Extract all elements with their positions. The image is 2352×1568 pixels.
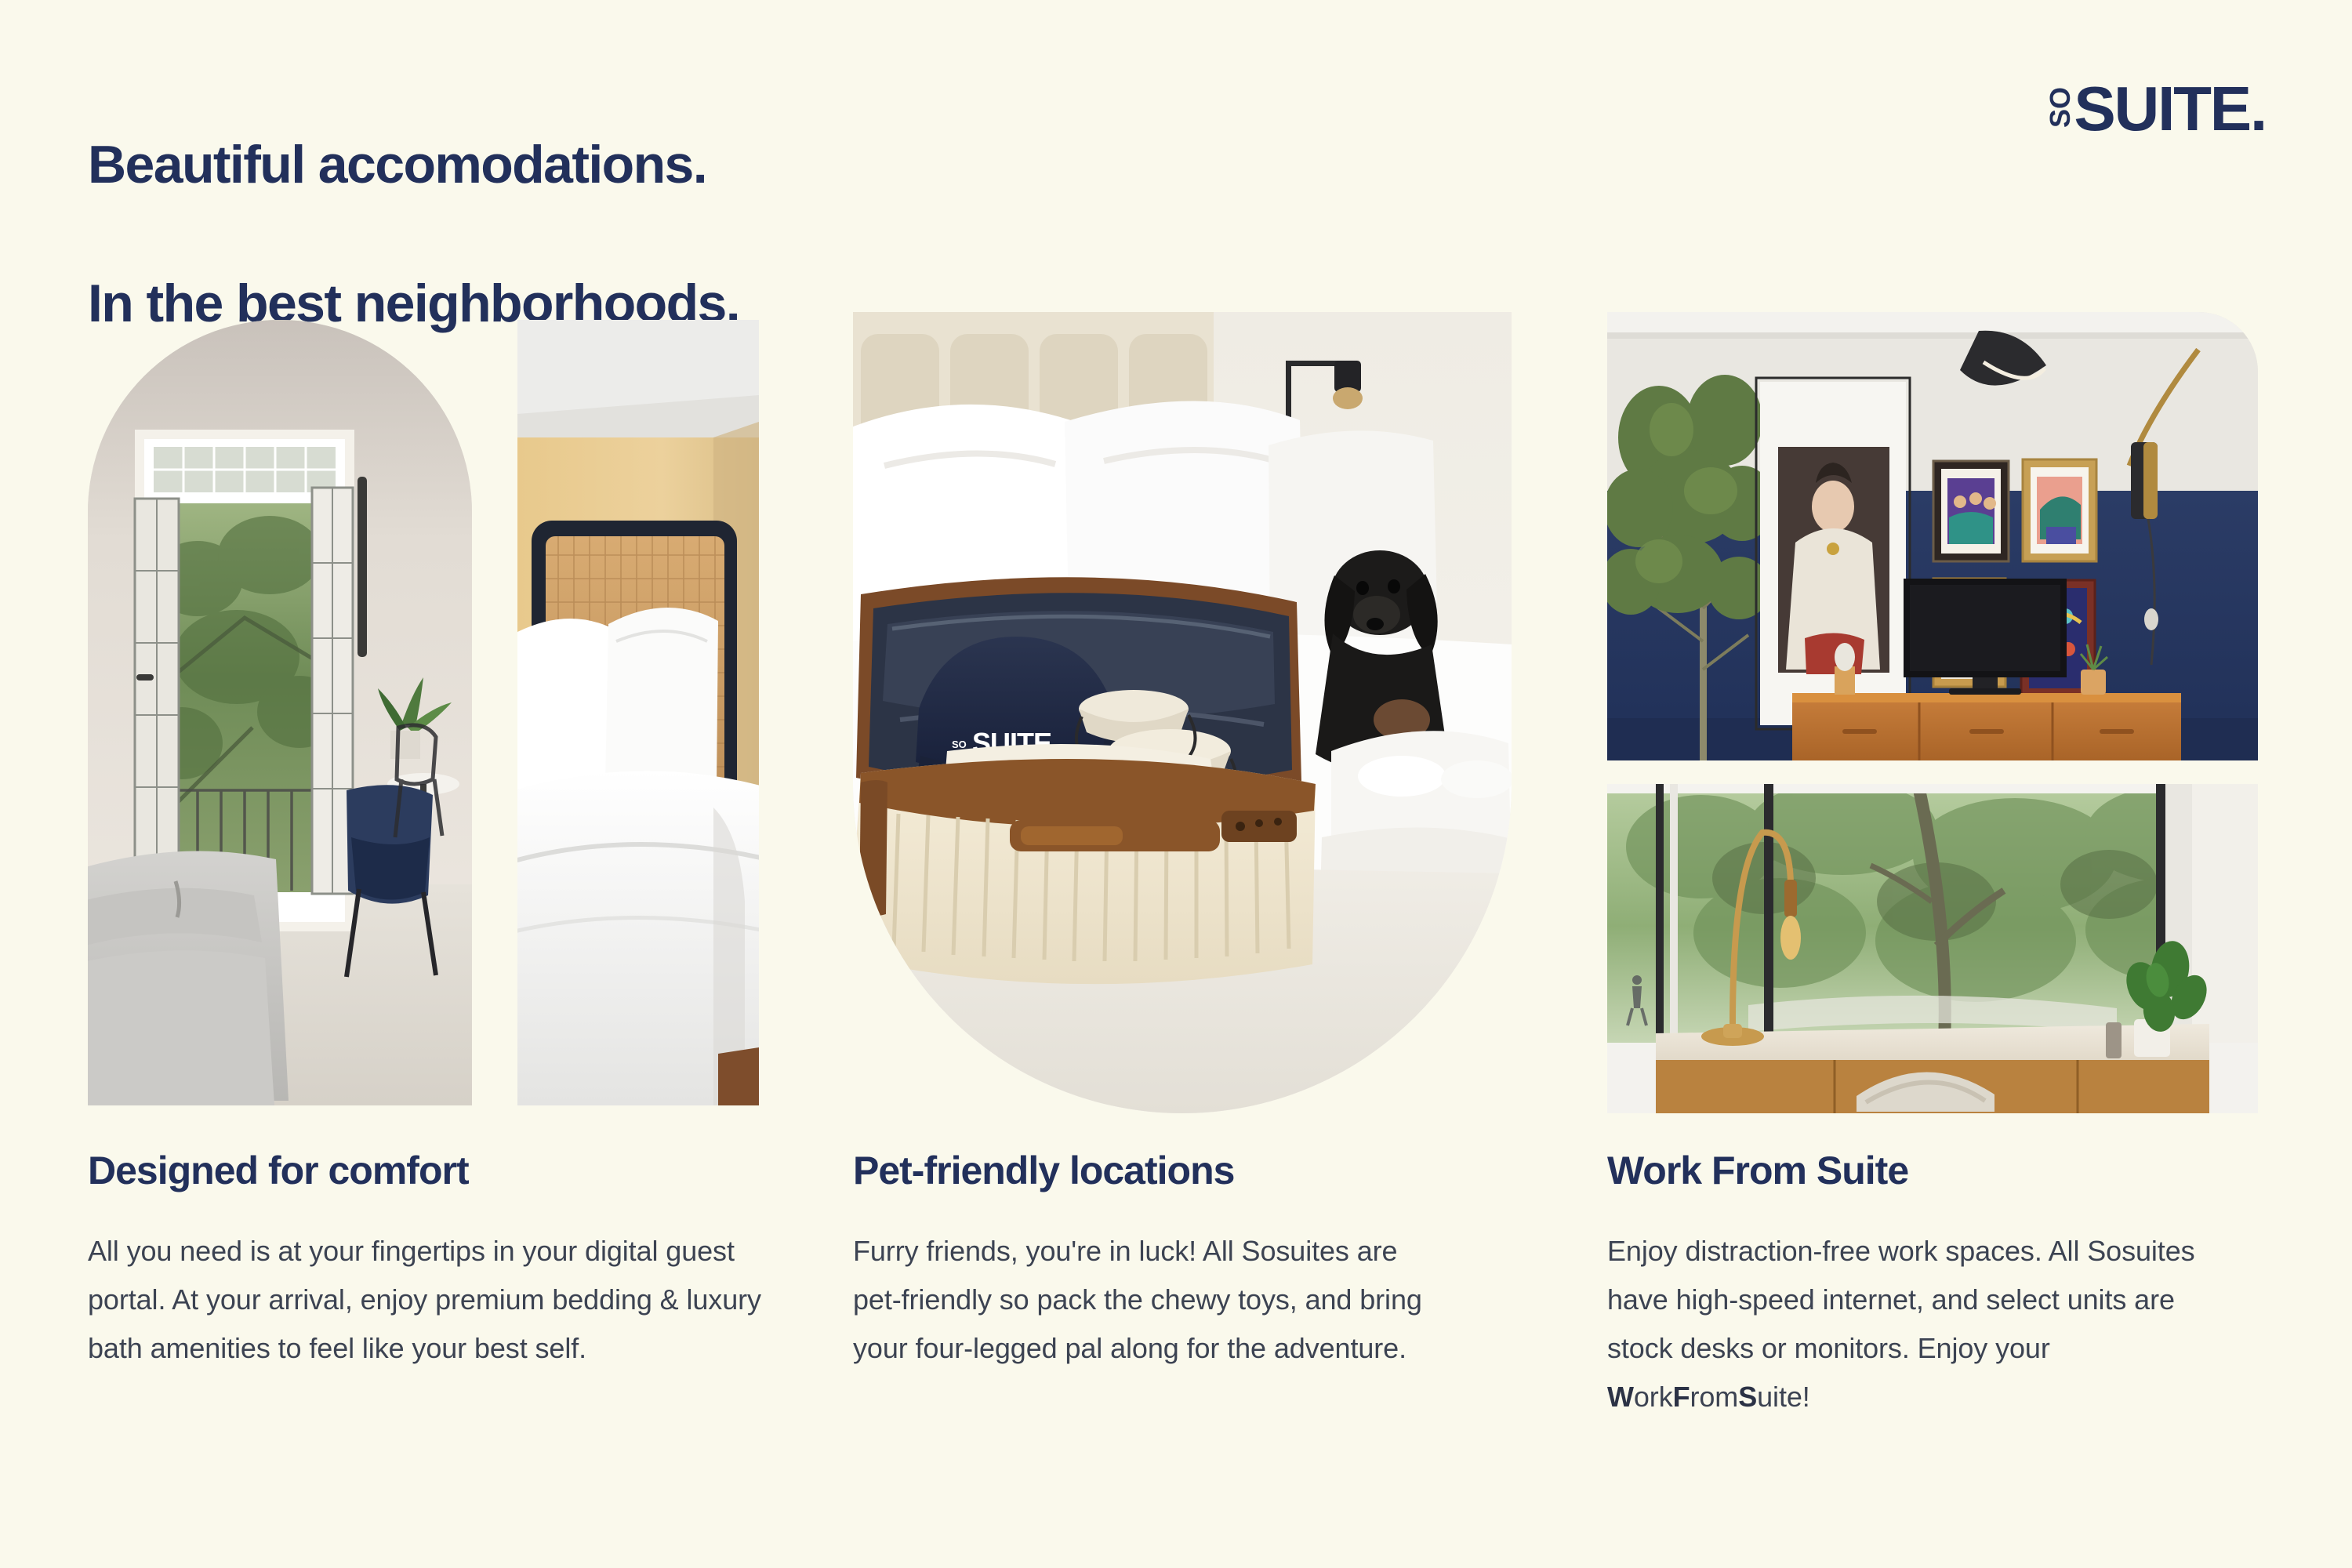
card-2-body: Furry friends, you're in luck! All Sosui… (853, 1227, 1449, 1373)
card-1-title: Designed for comfort (88, 1149, 762, 1192)
poster-page: Beautiful accomodations. In the best nei… (0, 0, 2352, 1568)
header: Beautiful accomodations. In the best nei… (0, 0, 2352, 298)
photo-bed-rattan-headboard (517, 320, 759, 1105)
logo-suite-wordmark: SUITE. (2074, 82, 2266, 136)
photo-window-desk-nook (1607, 784, 2258, 1113)
suitcase-dog-illustration: SO SUITE (853, 312, 1512, 1113)
card-1-media-row (88, 312, 762, 1105)
living-room-illustration (88, 320, 472, 1105)
card-2-title: Pet-friendly locations (853, 1149, 1527, 1192)
bedroom-illustration (517, 320, 759, 1105)
card-1-text: Designed for comfort All you need is at … (88, 1149, 762, 1373)
svg-text:SO: SO (952, 739, 967, 750)
so-suite-logo[interactable]: SO SUITE. (2041, 64, 2266, 136)
card-2-text: Pet-friendly locations Furry friends, yo… (853, 1149, 1527, 1373)
logo-so-mark: SO (2044, 91, 2077, 124)
card-1-body: All you need is at your fingertips in yo… (88, 1227, 762, 1373)
card-3-text: Work From Suite Enjoy distraction-free w… (1607, 1149, 2258, 1421)
photo-suitcase-with-dog: SO SUITE (853, 312, 1512, 1113)
window-desk-illustration (1607, 784, 2258, 1113)
navy-room-illustration (1607, 312, 2258, 760)
photo-living-room-balcony (88, 320, 472, 1105)
card-3-media-row (1607, 312, 2258, 1105)
feature-columns: Designed for comfort All you need is at … (0, 298, 2352, 1568)
photo-navy-room-with-tv (1607, 312, 2258, 760)
card-2-media-row: SO SUITE (853, 312, 1527, 1105)
card-3-title: Work From Suite (1607, 1149, 2258, 1192)
headline-line-1: Beautiful accomodations. (88, 130, 739, 199)
card-3-body: Enjoy distraction-free work spaces. All … (1607, 1227, 2227, 1421)
